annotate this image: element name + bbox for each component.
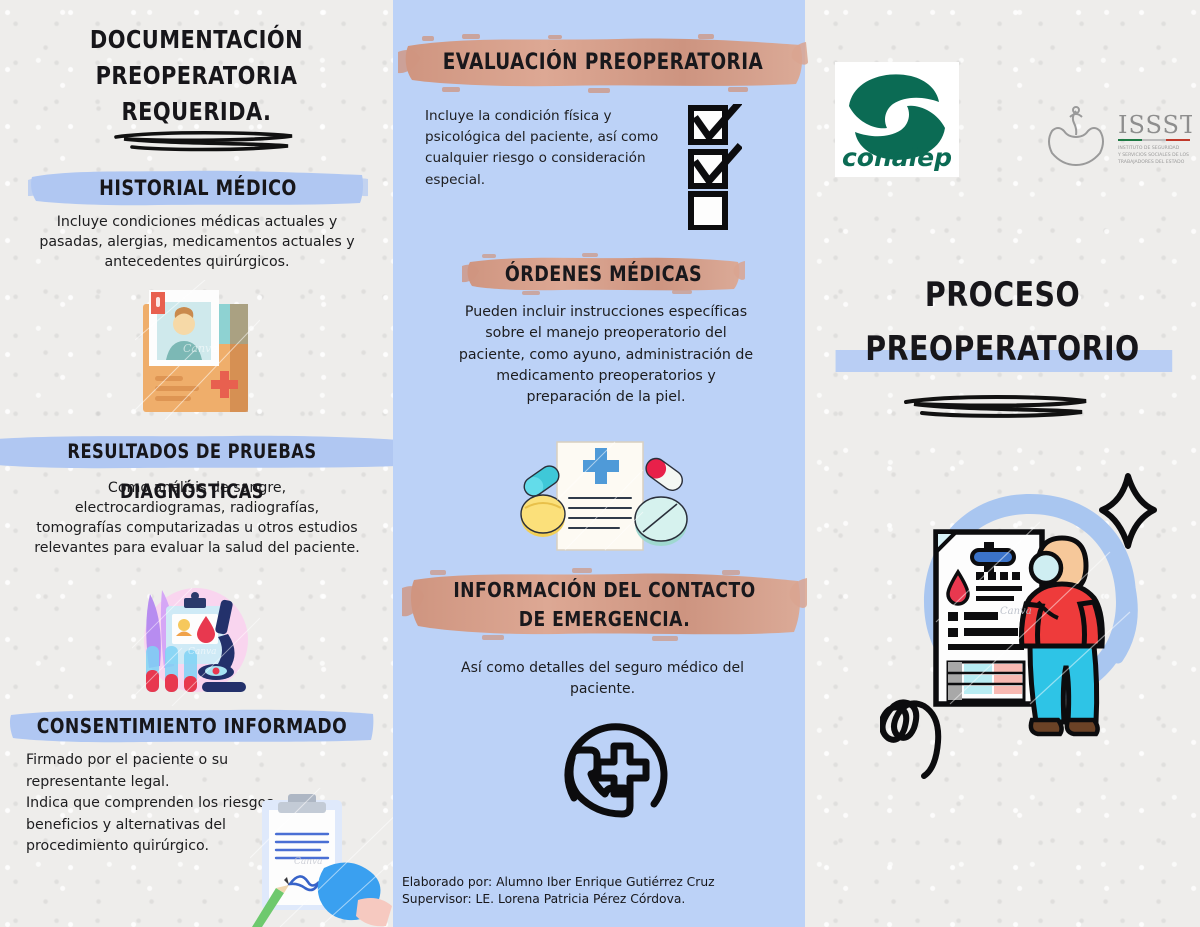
body-text-historial-medico: Incluye condiciones médicas actuales y p… [38,212,356,272]
credits-supervisor: Supervisor: LE. Lorena Patricia Pérez Có… [402,891,792,908]
laboratory-microscope-illustration: Canva [132,578,260,706]
checklist-checkbox-group[interactable] [688,104,742,230]
left-panel-title: DOCUMENTACIÓN PREOPERATORIA REQUERIDA. [14,22,379,130]
section-heading-consentimiento: CONSENTIMIENTO INFORMADO [8,706,376,746]
heading-text-historial-medico: HISTORIAL MÉDICO [40,166,356,210]
heading-text-contacto-emergencia-line-1: INFORMACIÓN DEL CONTACTO [416,566,793,605]
section-heading-resultados-pruebas: RESULTADOS DE PRUEBAS DIAGNÓSTICAS [0,432,402,472]
svg-text:Canva: Canva [183,342,218,355]
section-heading-evaluacion-preoperatoria: EVALUACIÓN PREOPERATORIA [398,32,808,94]
body-text-evaluacion-preoperatoria: Incluye la condición física y psicológic… [425,106,677,191]
svg-text:Canva: Canva [188,647,217,657]
cover-title-underline-scribble-icon [898,392,1094,422]
issste-wordmark: ISSSTE [1118,111,1192,139]
checkbox-checked-2 [691,148,738,186]
prescription-and-pills-illustration [505,440,700,565]
conalep-wordmark: conalep [842,143,952,172]
medical-folder-illustration: Canva [135,280,260,420]
patient-with-medical-chart-illustration: Canva [880,462,1180,782]
left-panel-title-line-1: DOCUMENTACIÓN [14,22,379,58]
issste-tagline-line-3: TRABAJADORES DEL ESTADO [1117,159,1185,165]
signing-clipboard-illustration: Canva [250,788,405,927]
left-panel-title-line-2: PREOPERATORIA [14,58,379,94]
left-panel-title-line-3: REQUERIDA. [14,94,379,130]
title-underline-scribble-icon [110,128,300,156]
body-text-contacto-emergencia: Así como detalles del seguro médico del … [440,658,765,700]
svg-text:Canva: Canva [294,857,323,867]
loop-doodle-icon [880,703,938,777]
checkbox-checked-1 [691,104,738,142]
left-panel: DOCUMENTACIÓN PREOPERATORIA REQUERIDA. H… [0,0,393,927]
body-text-ordenes-medicas: Pueden incluir instrucciones específicas… [456,302,756,408]
cover-title: PROCESO PREOPERATORIO [819,268,1186,376]
heading-text-resultados-pruebas: RESULTADOS DE PRUEBAS DIAGNÓSTICAS [0,432,387,512]
credits-author: Elaborado por: Alumno Iber Enrique Gutié… [402,874,792,891]
cover-title-line-1: PROCESO [819,268,1186,322]
brochure-stage: DOCUMENTACIÓN PREOPERATORIA REQUERIDA. H… [0,0,1200,927]
section-heading-ordenes-medicas: ÓRDENES MÉDICAS [462,252,745,296]
heading-text-evaluacion-preoperatoria: EVALUACIÓN PREOPERATORIA [412,32,793,94]
svg-text:Canva: Canva [1000,606,1032,617]
issste-tagline-line-1: INSTITUTO DE SEGURIDAD [1118,145,1180,151]
issste-logo: ISSSTE INSTITUTO DE SEGURIDAD Y SERVICIO… [1040,105,1192,171]
section-heading-contacto-emergencia: INFORMACIÓN DEL CONTACTO DE EMERGENCIA. [402,566,807,644]
section-heading-historial-medico: HISTORIAL MÉDICO [28,166,368,210]
credits-block: Elaborado por: Alumno Iber Enrique Gutié… [402,874,792,907]
heading-text-ordenes-medicas: ÓRDENES MÉDICAS [472,252,735,296]
emergency-phone-cross-icon [558,712,678,832]
heading-text-consentimiento: CONSENTIMIENTO INFORMADO [21,706,363,746]
issste-tagline-line-2: Y SERVICIOS SOCIALES DE LOS [1117,152,1189,158]
conalep-logo: conalep [835,62,959,177]
heading-text-contacto-emergencia-line-2: DE EMERGENCIA. [416,605,793,633]
checkbox-unchecked-3 [691,194,725,228]
cover-title-line-2: PREOPERATORIO [819,322,1186,376]
